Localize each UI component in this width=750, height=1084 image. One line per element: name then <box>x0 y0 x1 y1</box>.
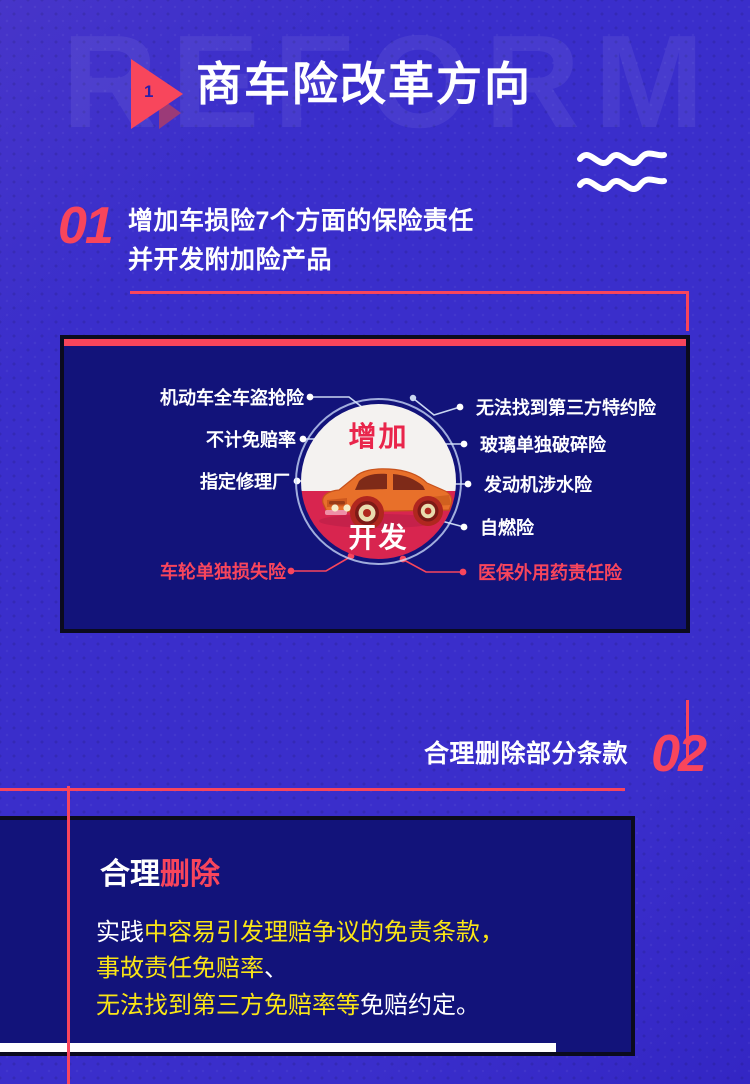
section-02-title: 合理删除部分条款 <box>424 734 628 770</box>
wave-lines-icon <box>576 143 692 199</box>
section-01-rule <box>130 291 688 294</box>
coverage-label-right-5: 医保外用药责任险 <box>478 564 622 582</box>
panel02-body: 实践中容易引发理赔争议的免责条款， 事故责任免赔率、 无法找到第三方免赔率等免赔… <box>96 915 504 1024</box>
play-triangle-icon: 1 <box>131 59 191 129</box>
section-01-title-line1: 增加车损险7个方面的保险责任 <box>128 202 474 241</box>
badge-number: 1 <box>144 83 153 100</box>
center-hub: 增加 <box>301 373 456 599</box>
coverage-label-right-2: 玻璃单独破碎险 <box>480 436 606 454</box>
panel02-line3-yellow: 无法找到第三方免赔率等 <box>96 992 360 1019</box>
infographic-poster: REFORM 1 商车险改革方向 01 增加车损险7个方面的保险责任 并开发附加… <box>0 0 750 1084</box>
play-triangle-shape-icon <box>131 59 183 129</box>
panel02-line1-white: 实践 <box>96 919 144 946</box>
panel02-heading-white: 合理 <box>100 858 160 891</box>
panel02-line2-white: 、 <box>264 955 288 982</box>
page-title: 商车险改革方向 <box>196 58 532 111</box>
hub-label-bottom: 开发 <box>301 516 456 556</box>
hub-label-top: 增加 <box>301 415 456 455</box>
panel02-body-line1: 实践中容易引发理赔争议的免责条款， <box>96 915 504 951</box>
section-01-number: 01 <box>58 200 112 252</box>
section-01-connector-drop <box>686 291 689 331</box>
panel02-heading: 合理删除 <box>100 860 220 890</box>
section-01-title: 增加车损险7个方面的保险责任 并开发附加险产品 <box>128 202 474 280</box>
diagram-area: 增加 <box>64 339 686 629</box>
coverage-label-left-1: 机动车全车盗抢险 <box>104 389 304 407</box>
coverage-label-left-2: 不计免赔率 <box>104 431 296 449</box>
section-02-number: 02 <box>651 728 705 780</box>
coverage-label-left-4: 车轮单独损失险 <box>104 563 286 581</box>
panel02-line1-yellow: 中容易引发理赔争议的免责条款， <box>144 919 504 946</box>
panel02-heading-red: 删除 <box>160 858 220 891</box>
panel02-line2-yellow: 事故责任免赔率 <box>96 955 264 982</box>
panel02-body-line2: 事故责任免赔率、 <box>96 951 504 987</box>
panel02-body-line3: 无法找到第三方免赔率等免赔约定。 <box>96 988 504 1024</box>
coverage-label-left-3: 指定修理厂 <box>104 473 290 491</box>
section-02-vertical-rule <box>67 786 70 1084</box>
deletion-detail-panel: 合理删除 实践中容易引发理赔争议的免责条款， 事故责任免赔率、 无法找到第三方免… <box>0 816 635 1056</box>
section-01-title-line2: 并开发附加险产品 <box>128 241 474 280</box>
section-02-rule <box>0 788 625 791</box>
coverage-label-right-4: 自燃险 <box>480 519 534 537</box>
coverage-diagram-panel: 增加 <box>60 335 690 633</box>
panel02-line3-white: 免赔约定。 <box>360 992 480 1019</box>
panel02-bottom-bar <box>0 1043 556 1052</box>
coverage-label-right-1: 无法找到第三方特约险 <box>476 399 656 417</box>
coverage-label-right-3: 发动机涉水险 <box>484 476 592 494</box>
